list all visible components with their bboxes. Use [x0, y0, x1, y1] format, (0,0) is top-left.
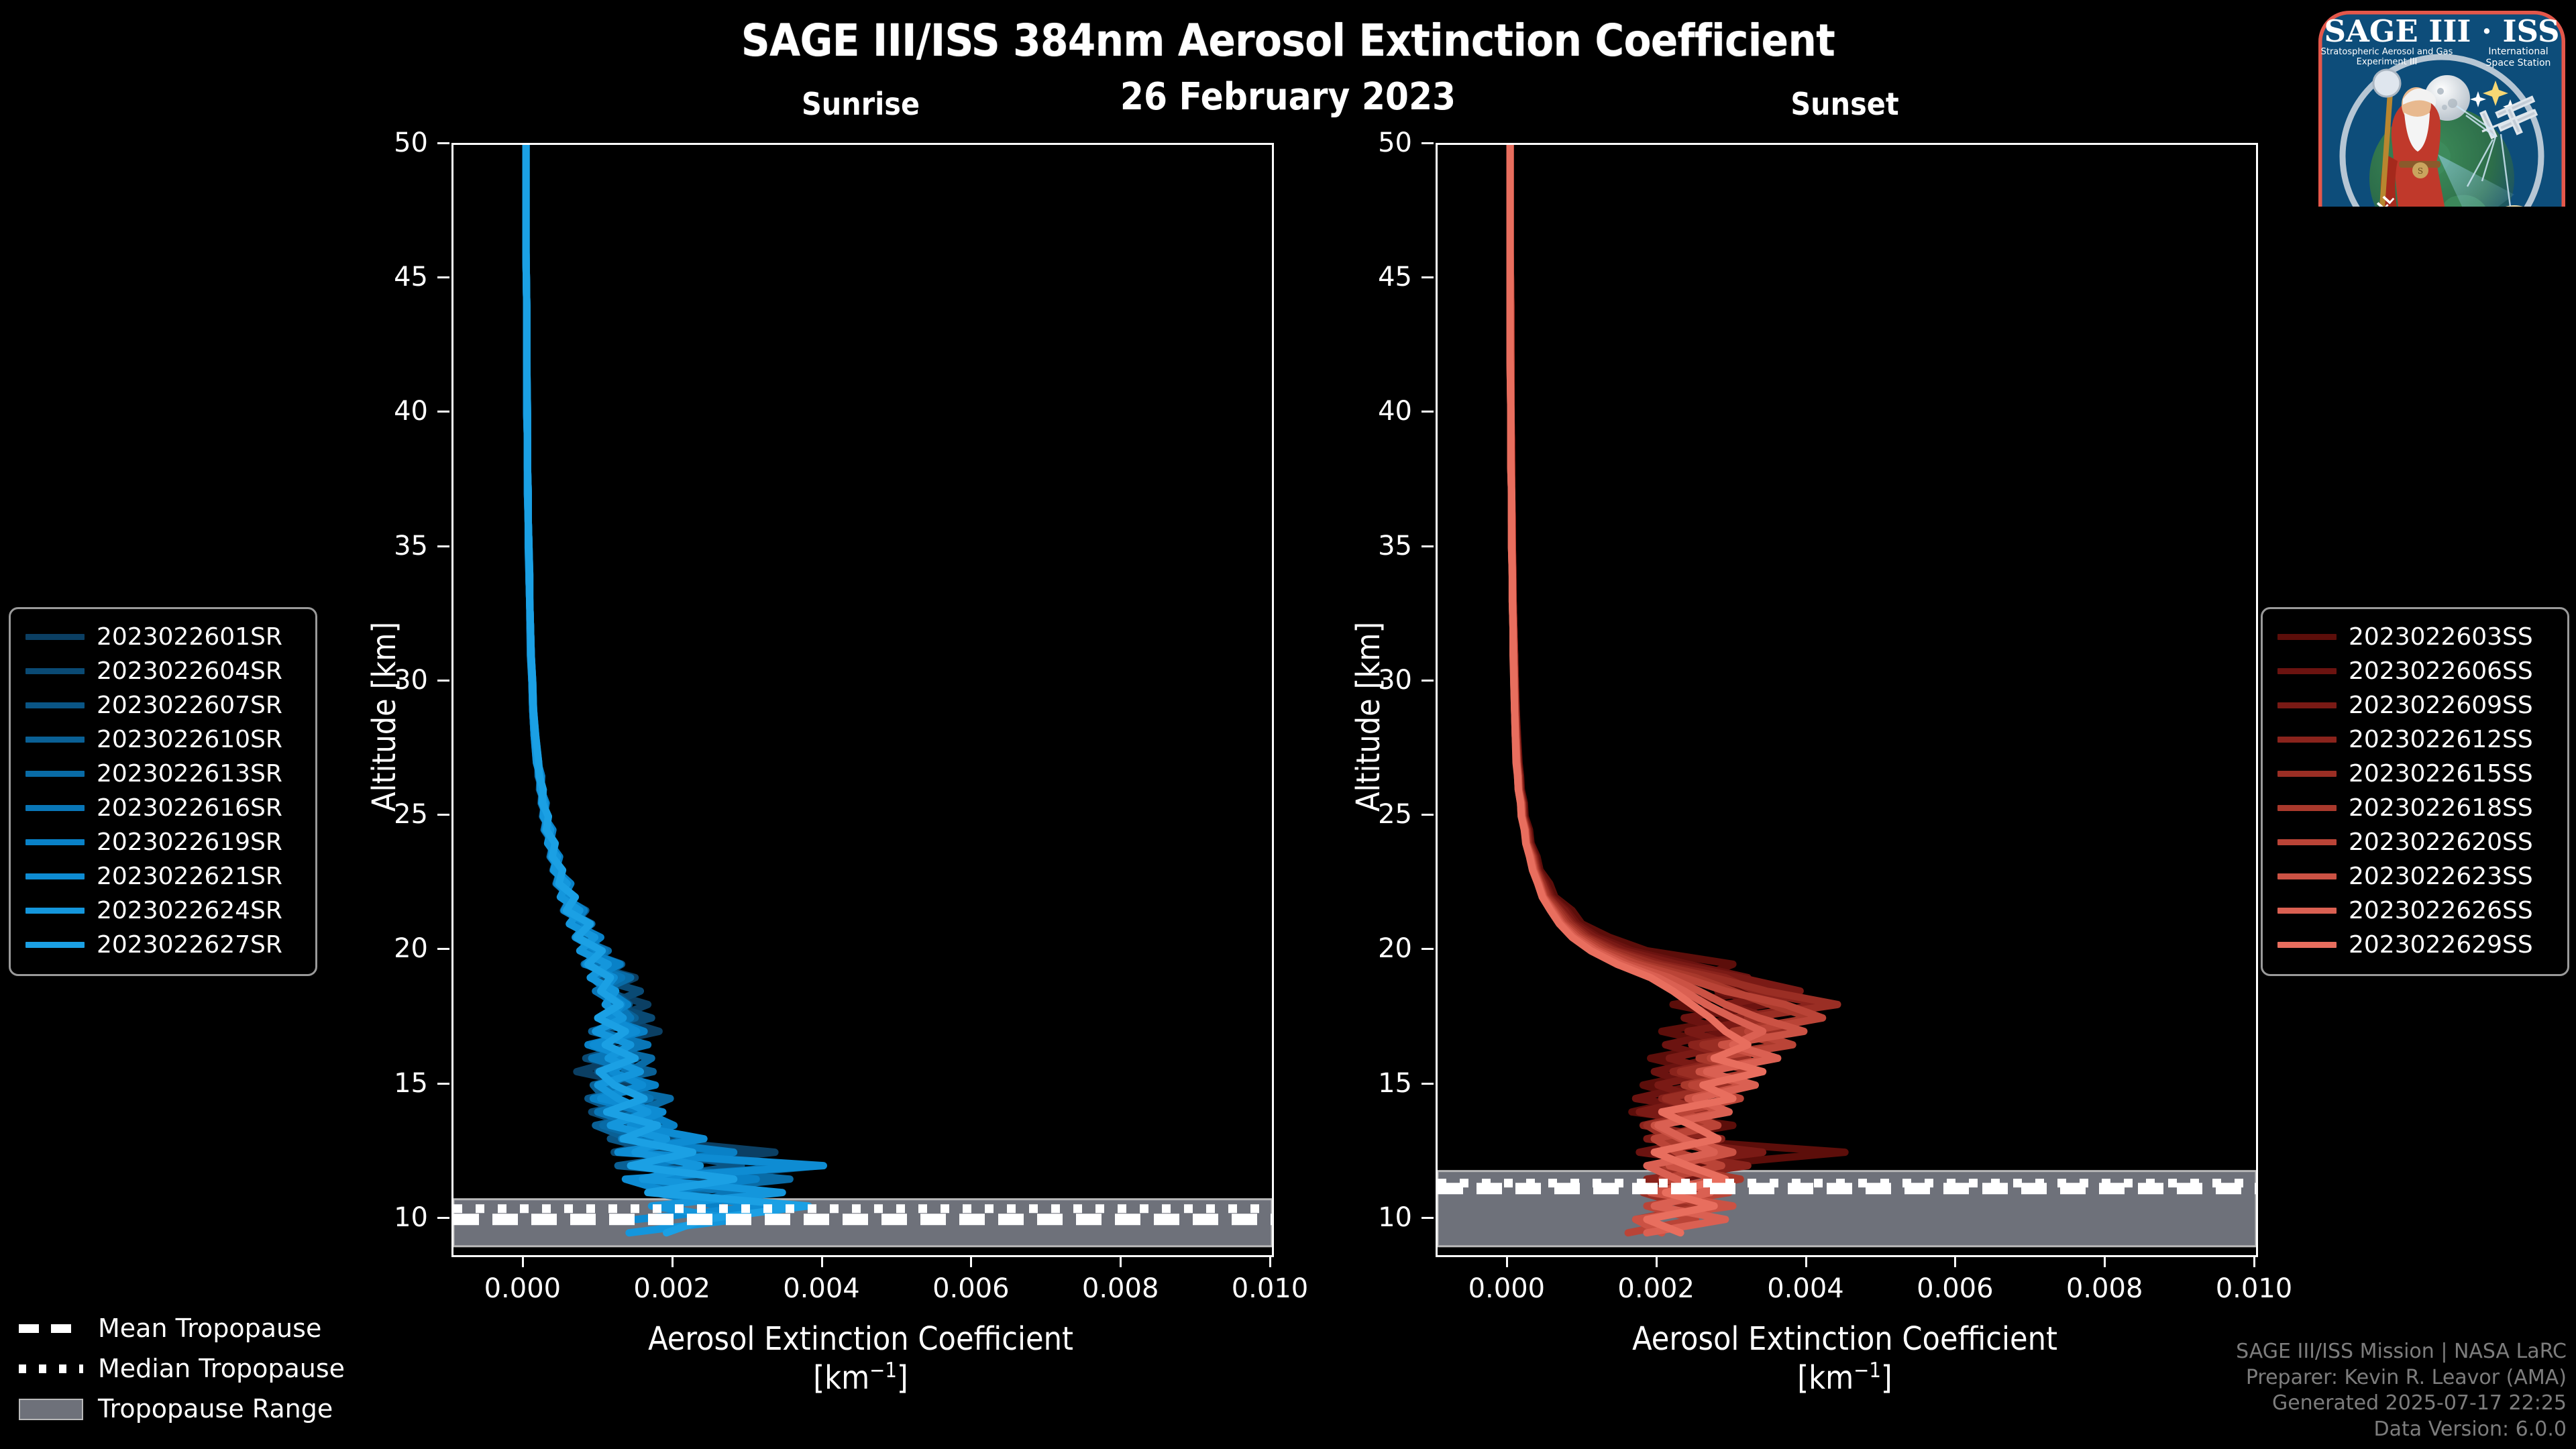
legend-item[interactable]: 2023022610SR	[20, 722, 306, 757]
legend-sunrise[interactable]: 2023022601SR2023022604SR2023022607SR2023…	[9, 607, 317, 976]
x-axis-label-sunrise: Aerosol Extinction Coefficient [km−1]	[451, 1320, 1270, 1397]
logo-subtitle-left: Stratospheric Aerosol and Gas	[2321, 47, 2453, 57]
sage-iii-iss-mission-patch-logo: S BALL ESA SAGE III · ISS Stratospheric …	[2313, 5, 2571, 207]
x-axis-tick-label: 0.002	[1582, 1273, 1730, 1304]
legend-item[interactable]: 2023022607SR	[20, 688, 306, 722]
legend-item-label: 2023022623SS	[2349, 863, 2533, 890]
legend-item-label: 2023022624SR	[97, 897, 282, 924]
x-axis-tick	[2104, 1255, 2106, 1267]
y-axis-tick	[437, 142, 449, 144]
y-axis-tick-label: 20	[361, 933, 428, 964]
x-axis-tick-label: 0.004	[1732, 1273, 1880, 1304]
y-axis-tick	[1421, 948, 1434, 950]
legend-color-swatch	[25, 702, 85, 708]
x-axis-tick	[2253, 1255, 2255, 1267]
legend-item-label: 2023022609SS	[2349, 692, 2533, 719]
legend-item-label: 2023022610SR	[97, 726, 282, 753]
legend-item[interactable]: 2023022612SS	[2272, 722, 2558, 757]
tropopause-range-band	[1438, 1171, 2256, 1246]
tropopause-legend-dotted-key	[19, 1364, 83, 1373]
y-axis-tick-label: 40	[1345, 396, 1412, 427]
y-axis-tick	[437, 814, 449, 816]
y-axis-tick-label: 15	[361, 1068, 428, 1099]
panel-title-sunrise: Sunrise	[451, 86, 1270, 122]
x-axis-tick-label: 0.010	[1196, 1273, 1344, 1304]
legend-tropopause: Mean TropopauseMedian TropopauseTropopau…	[15, 1308, 364, 1429]
legend-color-swatch	[25, 634, 85, 640]
series-line	[526, 145, 808, 1233]
page-title: SAGE III/ISS 384nm Aerosol Extinction Co…	[0, 15, 2576, 66]
legend-item-label: 2023022603SS	[2349, 623, 2533, 651]
legend-color-swatch	[2277, 942, 2337, 948]
legend-item-label: 2023022615SS	[2349, 760, 2533, 788]
legend-color-swatch	[2277, 668, 2337, 674]
legend-item[interactable]: 2023022619SR	[20, 825, 306, 859]
x-axis-tick-label: 0.002	[598, 1273, 746, 1304]
x-axis-tick-label: 0.000	[1433, 1273, 1580, 1304]
x-axis-tick	[970, 1255, 972, 1267]
logo-subtitle-right-1: International	[2488, 46, 2548, 57]
x-axis-tick	[1656, 1255, 1658, 1267]
y-axis-label-sunset: Altitude [km]	[1350, 622, 1387, 812]
legend-item-label: 2023022620SS	[2349, 828, 2533, 856]
legend-item[interactable]: 2023022615SS	[2272, 757, 2558, 791]
legend-item[interactable]: 2023022629SS	[2272, 928, 2558, 962]
y-axis-tick	[1421, 1217, 1434, 1219]
y-axis-tick	[437, 545, 449, 547]
legend-color-swatch	[25, 873, 85, 879]
legend-item[interactable]: 2023022624SR	[20, 894, 306, 928]
y-axis-tick-label: 40	[361, 396, 428, 427]
logo-title: SAGE III · ISS	[2324, 13, 2559, 49]
y-axis-tick	[437, 948, 449, 950]
svg-text:Experiment III: Experiment III	[2357, 57, 2418, 67]
legend-item-label: 2023022613SR	[97, 760, 282, 788]
y-axis-tick	[437, 411, 449, 413]
legend-sunset[interactable]: 2023022603SS2023022606SS2023022609SS2023…	[2261, 607, 2569, 976]
x-axis-tick-label: 0.010	[2180, 1273, 2328, 1304]
tropopause-legend-band-key	[19, 1399, 83, 1420]
footer-mission: SAGE III/ISS Mission | NASA LaRC	[2236, 1339, 2567, 1364]
legend-item[interactable]: 2023022623SS	[2272, 859, 2558, 894]
legend-item-label: 2023022612SS	[2349, 726, 2533, 753]
legend-item-label: 2023022629SS	[2349, 931, 2533, 959]
y-axis-tick	[437, 680, 449, 682]
x-axis-tick-label: 0.004	[748, 1273, 896, 1304]
legend-item[interactable]: 2023022604SR	[20, 654, 306, 688]
tropopause-legend-dashed-key	[19, 1324, 83, 1333]
legend-color-swatch	[25, 737, 85, 743]
tropopause-legend-item: Median Tropopause	[15, 1348, 364, 1389]
y-axis-tick	[1421, 142, 1434, 144]
legend-item[interactable]: 2023022618SS	[2272, 791, 2558, 825]
legend-item[interactable]: 2023022601SR	[20, 620, 306, 654]
legend-color-swatch	[2277, 873, 2337, 879]
x-axis-tick	[672, 1255, 674, 1267]
y-axis-tick	[1421, 814, 1434, 816]
x-axis-tick	[1269, 1255, 1271, 1267]
x-axis-label-sunset: Aerosol Extinction Coefficient [km−1]	[1436, 1320, 2254, 1397]
y-axis-tick	[437, 1083, 449, 1085]
y-axis-tick	[1421, 680, 1434, 682]
y-axis-tick	[437, 1217, 449, 1219]
legend-item-label: 2023022619SR	[97, 828, 282, 856]
x-axis-tick	[1506, 1255, 1508, 1267]
y-axis-tick	[1421, 1083, 1434, 1085]
legend-item[interactable]: 2023022621SR	[20, 859, 306, 894]
legend-color-swatch	[25, 839, 85, 845]
y-axis-tick-label: 15	[1345, 1068, 1412, 1099]
legend-item-label: 2023022627SR	[97, 931, 282, 959]
plot-panel-sunrise	[451, 143, 1274, 1257]
y-axis-tick-label: 45	[361, 262, 428, 292]
legend-color-swatch	[2277, 737, 2337, 743]
series-line	[526, 145, 820, 1179]
legend-item-label: 2023022626SS	[2349, 897, 2533, 924]
svg-text:S: S	[2418, 166, 2423, 176]
x-axis-label-text: Aerosol Extinction Coefficient	[648, 1320, 1073, 1358]
legend-item[interactable]: 2023022603SS	[2272, 620, 2558, 654]
panel-title-sunset: Sunset	[1436, 86, 2254, 122]
y-axis-tick	[437, 276, 449, 278]
x-axis-tick-label: 0.006	[1881, 1273, 2029, 1304]
legend-item[interactable]: 2023022620SS	[2272, 825, 2558, 859]
y-axis-tick	[1421, 545, 1434, 547]
tropopause-legend-label: Tropopause Range	[98, 1394, 333, 1424]
plot-area-sunrise	[453, 145, 1272, 1255]
x-axis-tick-label: 0.008	[2031, 1273, 2178, 1304]
plot-panel-sunset	[1436, 143, 2258, 1257]
legend-item[interactable]: 2023022626SS	[2272, 894, 2558, 928]
legend-item[interactable]: 2023022616SR	[20, 791, 306, 825]
tropopause-legend-key	[19, 1320, 83, 1337]
legend-color-swatch	[25, 942, 85, 948]
tropopause-legend-item: Tropopause Range	[15, 1389, 364, 1429]
legend-color-swatch	[25, 805, 85, 811]
tropopause-legend-label: Mean Tropopause	[98, 1313, 321, 1343]
legend-item-label: 2023022621SR	[97, 863, 282, 890]
footer-data-version: Data Version: 6.0.0	[2236, 1417, 2567, 1442]
tropopause-legend-key	[19, 1400, 83, 1417]
legend-color-swatch	[2277, 908, 2337, 914]
legend-item-label: 2023022604SR	[97, 657, 282, 685]
series-line	[526, 145, 805, 1206]
legend-color-swatch	[25, 668, 85, 674]
y-axis-tick-label: 10	[361, 1202, 428, 1233]
y-axis-tick	[1421, 411, 1434, 413]
y-axis-tick-label: 10	[1345, 1202, 1412, 1233]
plot-area-sunset	[1438, 145, 2256, 1255]
series-canvas-sunset	[1438, 145, 2256, 1255]
x-axis-label-text: Aerosol Extinction Coefficient	[1632, 1320, 2057, 1358]
x-axis-tick	[1954, 1255, 1956, 1267]
series-line	[526, 145, 823, 1220]
series-line	[526, 145, 775, 1166]
legend-item-label: 2023022607SR	[97, 692, 282, 719]
footer-credit: SAGE III/ISS Mission | NASA LaRC Prepare…	[2236, 1339, 2567, 1442]
series-line	[526, 145, 790, 1193]
y-axis-tick-label: 35	[361, 531, 428, 561]
legend-color-swatch	[2277, 805, 2337, 811]
x-axis-tick-label: 0.006	[897, 1273, 1044, 1304]
y-axis-tick-label: 45	[1345, 262, 1412, 292]
legend-item-label: 2023022616SR	[97, 794, 282, 822]
legend-item[interactable]: 2023022613SR	[20, 757, 306, 791]
legend-item-label: 2023022618SS	[2349, 794, 2533, 822]
x-axis-tick	[1120, 1255, 1122, 1267]
x-axis-tick	[821, 1255, 823, 1267]
footer-generated: Generated 2025-07-17 22:25	[2236, 1391, 2567, 1416]
figure-canvas: SAGE III/ISS 384nm Aerosol Extinction Co…	[0, 0, 2576, 1449]
y-axis-tick-label: 20	[1345, 933, 1412, 964]
x-axis-tick-label: 0.008	[1046, 1273, 1194, 1304]
footer-preparer: Preparer: Kevin R. Leavor (AMA)	[2236, 1365, 2567, 1391]
logo-subtitle-right-2: Space Station	[2486, 58, 2551, 68]
legend-color-swatch	[2277, 702, 2337, 708]
legend-color-swatch	[2277, 634, 2337, 640]
legend-item[interactable]: 2023022606SS	[2272, 654, 2558, 688]
x-axis-tick	[522, 1255, 524, 1267]
legend-color-swatch	[25, 771, 85, 777]
y-axis-tick-label: 50	[1345, 127, 1412, 158]
x-axis-tick	[1805, 1255, 1807, 1267]
legend-item[interactable]: 2023022609SS	[2272, 688, 2558, 722]
tropopause-legend-label: Median Tropopause	[98, 1354, 345, 1383]
legend-item-label: 2023022601SR	[97, 623, 282, 651]
y-axis-tick-label: 35	[1345, 531, 1412, 561]
tropopause-legend-key	[19, 1360, 83, 1377]
y-axis-tick	[1421, 276, 1434, 278]
legend-color-swatch	[2277, 839, 2337, 845]
y-axis-tick-label: 50	[361, 127, 428, 158]
x-axis-units: [km−1]	[813, 1359, 908, 1397]
series-canvas-sunrise	[453, 145, 1272, 1255]
legend-color-swatch	[2277, 771, 2337, 777]
legend-item-label: 2023022606SS	[2349, 657, 2533, 685]
tropopause-legend-item: Mean Tropopause	[15, 1308, 364, 1348]
x-axis-units: [km−1]	[1797, 1359, 1892, 1397]
legend-color-swatch	[25, 908, 85, 914]
x-axis-tick-label: 0.000	[449, 1273, 596, 1304]
legend-item[interactable]: 2023022627SR	[20, 928, 306, 962]
y-axis-label-sunrise: Altitude [km]	[366, 622, 403, 812]
